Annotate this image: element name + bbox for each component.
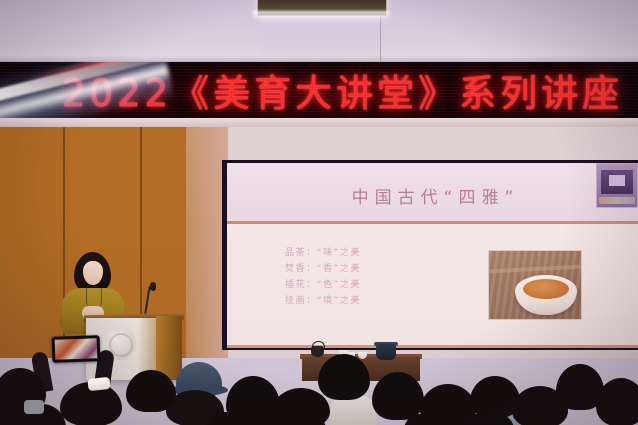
lecture-hall-photo: 2022《美育大讲堂》系列讲座 中国古代“四雅” 品茶：“味”之美 焚香：“香”… (0, 0, 638, 425)
slide-bullet-list: 品茶：“味”之美 焚香：“香”之美 插花：“色”之美 挂画：“境”之美 (285, 245, 361, 309)
audience-shoulders (404, 414, 514, 425)
audience-shirt (330, 396, 376, 425)
video-conference-thumbnail (596, 163, 638, 208)
slide-title: 中国古代“四雅” (227, 183, 638, 208)
tea-liquid-shape (523, 279, 569, 299)
led-banner: 2022《美育大讲堂》系列讲座 (0, 62, 638, 118)
microphone-head-icon (150, 282, 156, 291)
projection-screen: 中国古代“四雅” 品茶：“味”之美 焚香：“香”之美 插花：“色”之美 挂画：“… (227, 163, 638, 348)
tea-jar-icon (376, 344, 396, 360)
thumbnail-inner (601, 170, 633, 194)
audience-head (126, 370, 176, 412)
audience-phone-recording (52, 335, 101, 363)
slide-bullet-item: 焚香：“香”之美 (285, 261, 361, 277)
ceiling-fixture-housing (262, 16, 380, 62)
ceiling-fixture-edge (380, 16, 381, 62)
slide-bullet-item: 插花：“色”之美 (285, 277, 361, 293)
speaker-lanyard (86, 288, 102, 308)
phone-screen (55, 338, 98, 359)
wall-cornice (0, 118, 638, 127)
audience-shoulders (206, 412, 326, 425)
slide-divider-rule (227, 221, 638, 224)
teapot-icon (311, 346, 324, 357)
led-banner-text: 2022《美育大讲堂》系列讲座 (62, 63, 623, 117)
slide-bullet-item: 挂画：“境”之美 (285, 293, 361, 309)
slide-bullet-item: 品茶：“味”之美 (285, 245, 361, 261)
audience-face-mask (24, 400, 44, 414)
slide-bottom-rule (227, 345, 638, 348)
thumbnail-screen (609, 175, 625, 186)
audience-hair-clip (87, 377, 110, 391)
podium-side-panel (156, 316, 182, 380)
fixture-glow (253, 11, 389, 19)
audience-head (318, 354, 370, 400)
slide-photo-teacup (489, 251, 581, 319)
thumbnail-toolbar (599, 197, 635, 204)
